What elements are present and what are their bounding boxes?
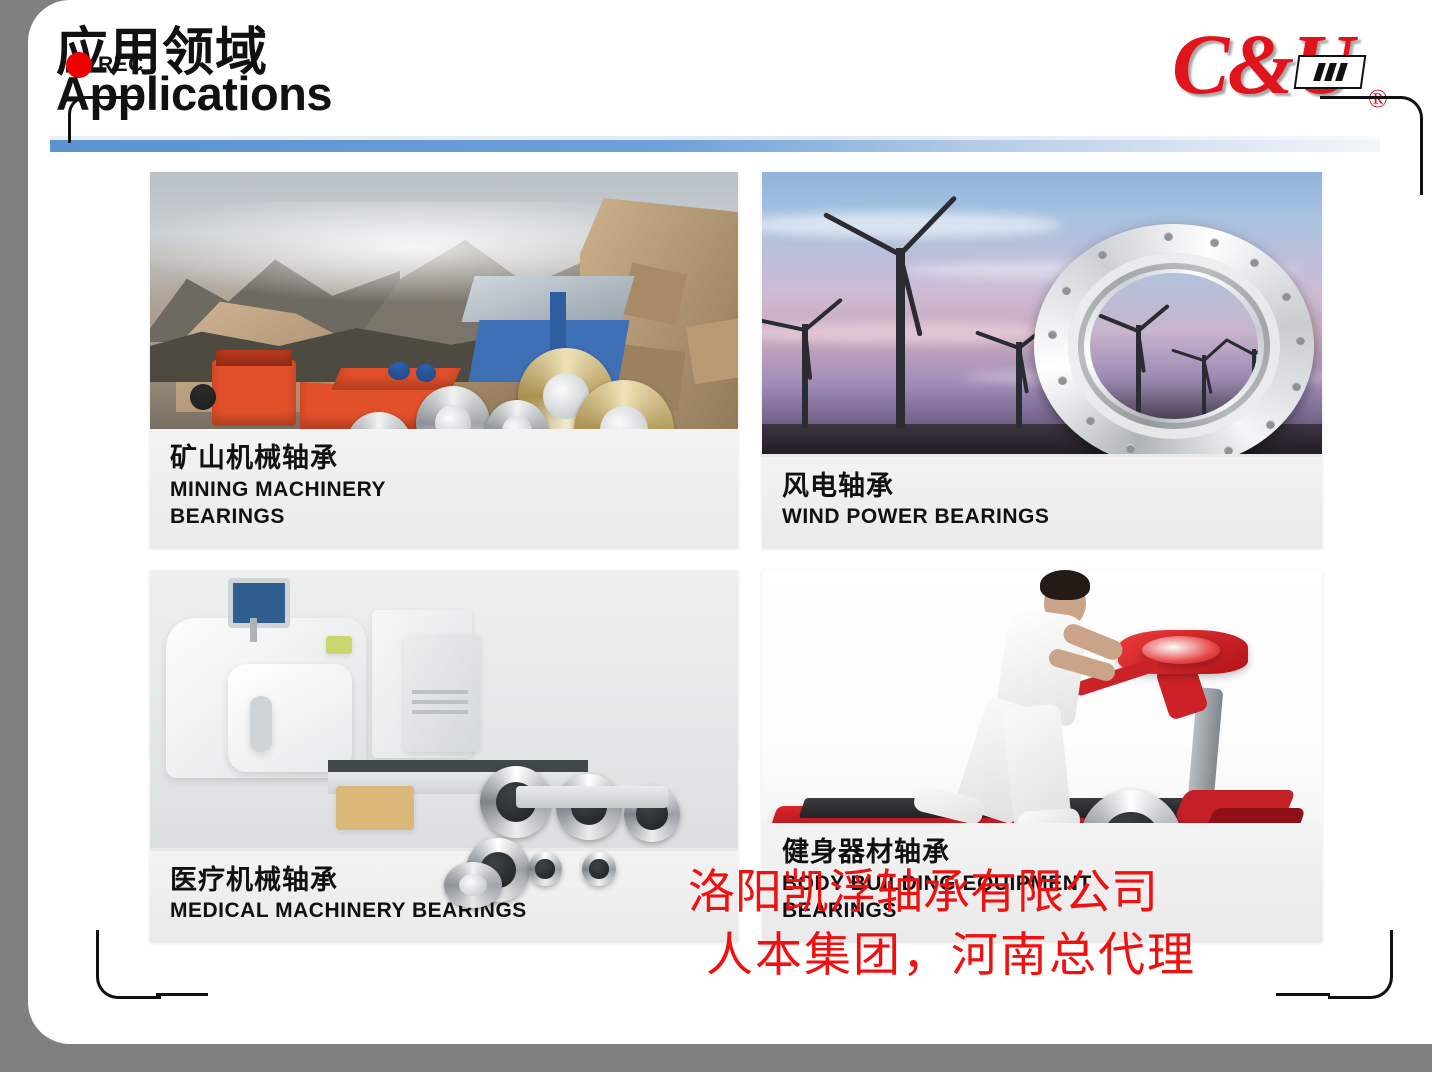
bracket-bottom-right-tail — [1276, 993, 1330, 996]
mining-caption: 矿山机械轴承 MINING MACHINERY BEARINGS — [150, 429, 738, 548]
mining-title-en-2: BEARINGS — [170, 504, 738, 530]
medical-caption: 医疗机械轴承 MEDICAL MACHINERY BEARINGS — [150, 851, 738, 942]
slide-page: 应用领域 REC Applications C&U ® — [28, 0, 1432, 1044]
wind-photo — [762, 172, 1322, 454]
application-card-wind[interactable]: 风电轴承 WIND POWER BEARINGS — [762, 172, 1322, 548]
body-building-title-cn: 健身器材轴承 — [782, 837, 1322, 869]
body-building-photo — [762, 570, 1322, 856]
wind-title-en-1: WIND POWER BEARINGS — [782, 504, 1322, 530]
application-card-mining[interactable]: 矿山机械轴承 MINING MACHINERY BEARINGS — [150, 172, 738, 548]
bracket-top-left — [68, 96, 113, 143]
body-building-title-en-2: BEARINGS — [782, 898, 1322, 924]
body-building-caption: 健身器材轴承 BODY BUILDING EQUIPMENT BEARINGS — [762, 823, 1322, 942]
wind-caption: 风电轴承 WIND POWER BEARINGS — [762, 457, 1322, 548]
slide-stage: 应用领域 REC Applications C&U ® — [0, 0, 1432, 1072]
mining-title-en-1: MINING MACHINERY — [170, 477, 738, 503]
application-card-grid: 矿山机械轴承 MINING MACHINERY BEARINGS — [150, 172, 1322, 942]
mining-photo — [150, 172, 738, 452]
application-card-body-building[interactable]: 健身器材轴承 BODY BUILDING EQUIPMENT BEARINGS — [762, 570, 1322, 942]
wind-title-cn: 风电轴承 — [782, 471, 1322, 503]
slewing-bearing — [1034, 224, 1314, 454]
bracket-bottom-right — [1328, 930, 1393, 999]
bracket-top-right — [1360, 96, 1423, 195]
cu-logo-bars-icon — [1294, 55, 1367, 89]
header-blue-rule — [50, 140, 1380, 152]
medical-photo — [150, 570, 738, 848]
mining-title-cn: 矿山机械轴承 — [170, 443, 738, 475]
body-building-title-en-1: BODY BUILDING EQUIPMENT — [782, 871, 1322, 897]
bracket-top-left-tail — [104, 96, 144, 99]
bracket-top-right-tail — [1320, 96, 1364, 99]
bracket-bottom-left-tail — [156, 993, 208, 996]
application-card-medical[interactable]: 医疗机械轴承 MEDICAL MACHINERY BEARINGS — [150, 570, 738, 942]
